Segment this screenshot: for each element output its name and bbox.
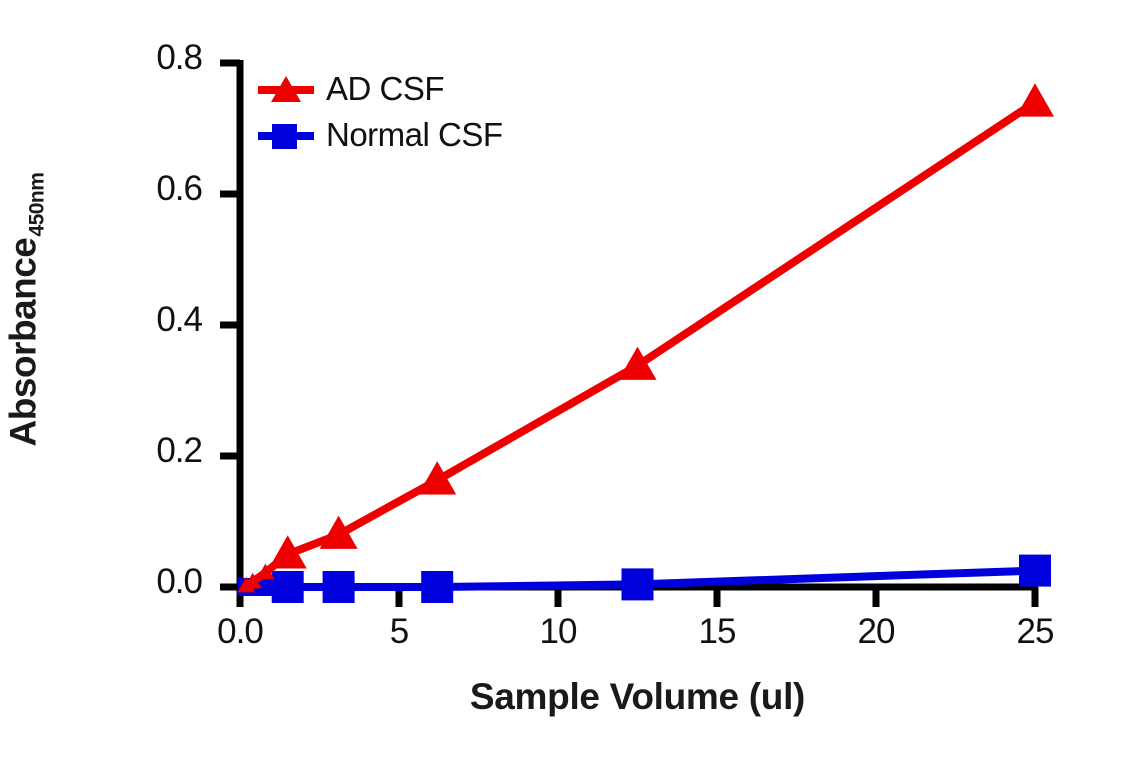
data-point-marker — [272, 571, 304, 603]
data-point-marker — [619, 347, 657, 380]
data-point-marker — [1019, 555, 1051, 587]
data-series — [237, 83, 1054, 603]
data-point-marker — [1016, 83, 1054, 116]
data-point-marker — [323, 571, 355, 603]
plot-area — [0, 0, 1141, 768]
data-point-marker — [320, 516, 358, 549]
series-line — [246, 102, 1035, 585]
data-point-marker — [418, 461, 456, 494]
chart-figure: Absorbance450nm 0.8 0.6 0.4 0.2 0.0 0.0 … — [0, 0, 1141, 768]
series-normal-csf — [237, 555, 1051, 603]
axis-spines — [237, 60, 1038, 587]
data-point-marker — [421, 571, 453, 603]
data-point-marker — [622, 568, 654, 600]
series-ad-csf — [237, 83, 1054, 592]
